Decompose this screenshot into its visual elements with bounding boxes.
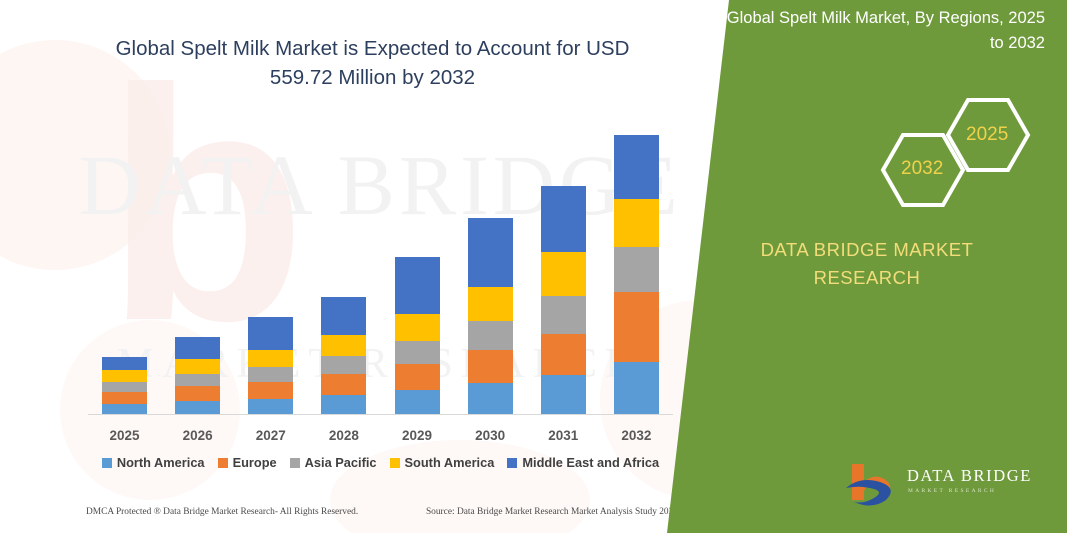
legend-item[interactable]: North America <box>102 455 205 470</box>
chart-baseline <box>88 414 673 415</box>
bar-segment <box>321 356 366 374</box>
bar-segment <box>175 374 220 386</box>
bar-segment <box>395 341 440 364</box>
legend-swatch <box>102 458 112 468</box>
hexagon-group: 2025 2032 <box>763 95 1063 210</box>
bar-segment <box>102 357 147 370</box>
bar-segment <box>614 247 659 292</box>
legend-swatch <box>390 458 400 468</box>
bar-segment <box>102 370 147 382</box>
legend-swatch <box>218 458 228 468</box>
bar-segment <box>321 335 366 356</box>
bar-segment <box>248 399 293 415</box>
legend-label: Middle East and Africa <box>522 455 659 470</box>
logo-wordmark: DATA BRIDGE <box>907 466 1032 486</box>
right-brand-panel: Global Spelt Milk Market, By Regions, 20… <box>667 0 1067 533</box>
legend-label: Europe <box>233 455 277 470</box>
hexagon-label-front: 2032 <box>901 158 943 180</box>
logo-subtitle: MARKET RESEARCH <box>908 488 996 494</box>
bar-column <box>95 110 155 415</box>
bar-column <box>533 110 593 415</box>
bar-segment <box>541 252 586 296</box>
bar-segment <box>468 287 513 321</box>
bar-segment <box>614 362 659 415</box>
bar-segment <box>175 337 220 359</box>
x-axis-tick-label: 2025 <box>95 428 155 443</box>
legend-swatch <box>290 458 300 468</box>
bar-segment <box>248 382 293 399</box>
brand-name-line2: RESEARCH <box>814 267 921 288</box>
data-bridge-logo: DATA BRIDGE MARKET RESEARCH <box>842 462 1042 514</box>
legend-label: North America <box>117 455 205 470</box>
x-axis-tick-label: 2030 <box>460 428 520 443</box>
bar-column <box>314 110 374 415</box>
left-content-panel: b DATA BRIDGE MARKET RESEARCH Global Spe… <box>0 0 760 533</box>
bar-segment <box>248 317 293 350</box>
legend-item[interactable]: South America <box>390 455 495 470</box>
bar-segment <box>395 364 440 390</box>
bar-segment <box>541 375 586 415</box>
bar-column <box>387 110 447 415</box>
x-axis-tick-label: 2026 <box>168 428 228 443</box>
bar-segment <box>395 390 440 415</box>
x-axis-tick-label: 2029 <box>387 428 447 443</box>
decorative-blob <box>330 440 590 533</box>
x-axis-tick-label: 2031 <box>533 428 593 443</box>
bar-segment <box>102 382 147 392</box>
bar-segment <box>175 401 220 415</box>
bar-segment <box>321 374 366 395</box>
bar-segment <box>395 314 440 341</box>
chart-plot-area <box>88 110 673 415</box>
bar-segment <box>614 135 659 199</box>
hexagon-svg <box>763 95 1063 210</box>
bar-segment <box>175 359 220 374</box>
bar-segment <box>468 383 513 415</box>
bar-segment <box>468 350 513 383</box>
bar-segment <box>541 334 586 375</box>
bar-segment <box>468 218 513 287</box>
legend-label: South America <box>405 455 495 470</box>
bar-segment <box>248 367 293 382</box>
legend-label: Asia Pacific <box>305 455 377 470</box>
bar-column <box>168 110 228 415</box>
x-axis-tick-label: 2027 <box>241 428 301 443</box>
page-title: Global Spelt Milk Market is Expected to … <box>110 34 635 92</box>
brand-name-line1: DATA BRIDGE MARKET <box>761 239 974 260</box>
legend-swatch <box>507 458 517 468</box>
bar-column <box>460 110 520 415</box>
x-axis-tick-label: 2028 <box>314 428 374 443</box>
bar-segment <box>321 395 366 415</box>
panel-title: Global Spelt Milk Market, By Regions, 20… <box>725 6 1045 56</box>
logo-mark-icon <box>842 462 904 508</box>
legend-item[interactable]: Middle East and Africa <box>507 455 659 470</box>
bar-segment <box>321 297 366 335</box>
legend-item[interactable]: Europe <box>218 455 277 470</box>
chart-legend: North AmericaEuropeAsia PacificSouth Ame… <box>88 455 673 470</box>
x-axis-tick-label: 2032 <box>606 428 666 443</box>
bar-segment <box>541 186 586 252</box>
stacked-bar-chart <box>88 110 673 415</box>
footer-source: Source: Data Bridge Market Research Mark… <box>426 507 678 517</box>
bar-segment <box>248 350 293 367</box>
footer-copyright: DMCA Protected ® Data Bridge Market Rese… <box>86 507 358 517</box>
chart-x-axis-labels: 20252026202720282029203020312032 <box>88 424 673 446</box>
bar-segment <box>614 292 659 362</box>
footer: DMCA Protected ® Data Bridge Market Rese… <box>0 507 760 517</box>
bar-segment <box>102 392 147 404</box>
bar-segment <box>541 296 586 334</box>
legend-item[interactable]: Asia Pacific <box>290 455 377 470</box>
bar-segment <box>614 199 659 247</box>
bar-column <box>241 110 301 415</box>
bar-segment <box>395 257 440 314</box>
hexagon-label-back: 2025 <box>966 124 1008 146</box>
bar-segment <box>468 321 513 350</box>
bar-segment <box>175 386 220 401</box>
brand-name: DATA BRIDGE MARKET RESEARCH <box>667 236 1067 292</box>
bar-column <box>606 110 666 415</box>
